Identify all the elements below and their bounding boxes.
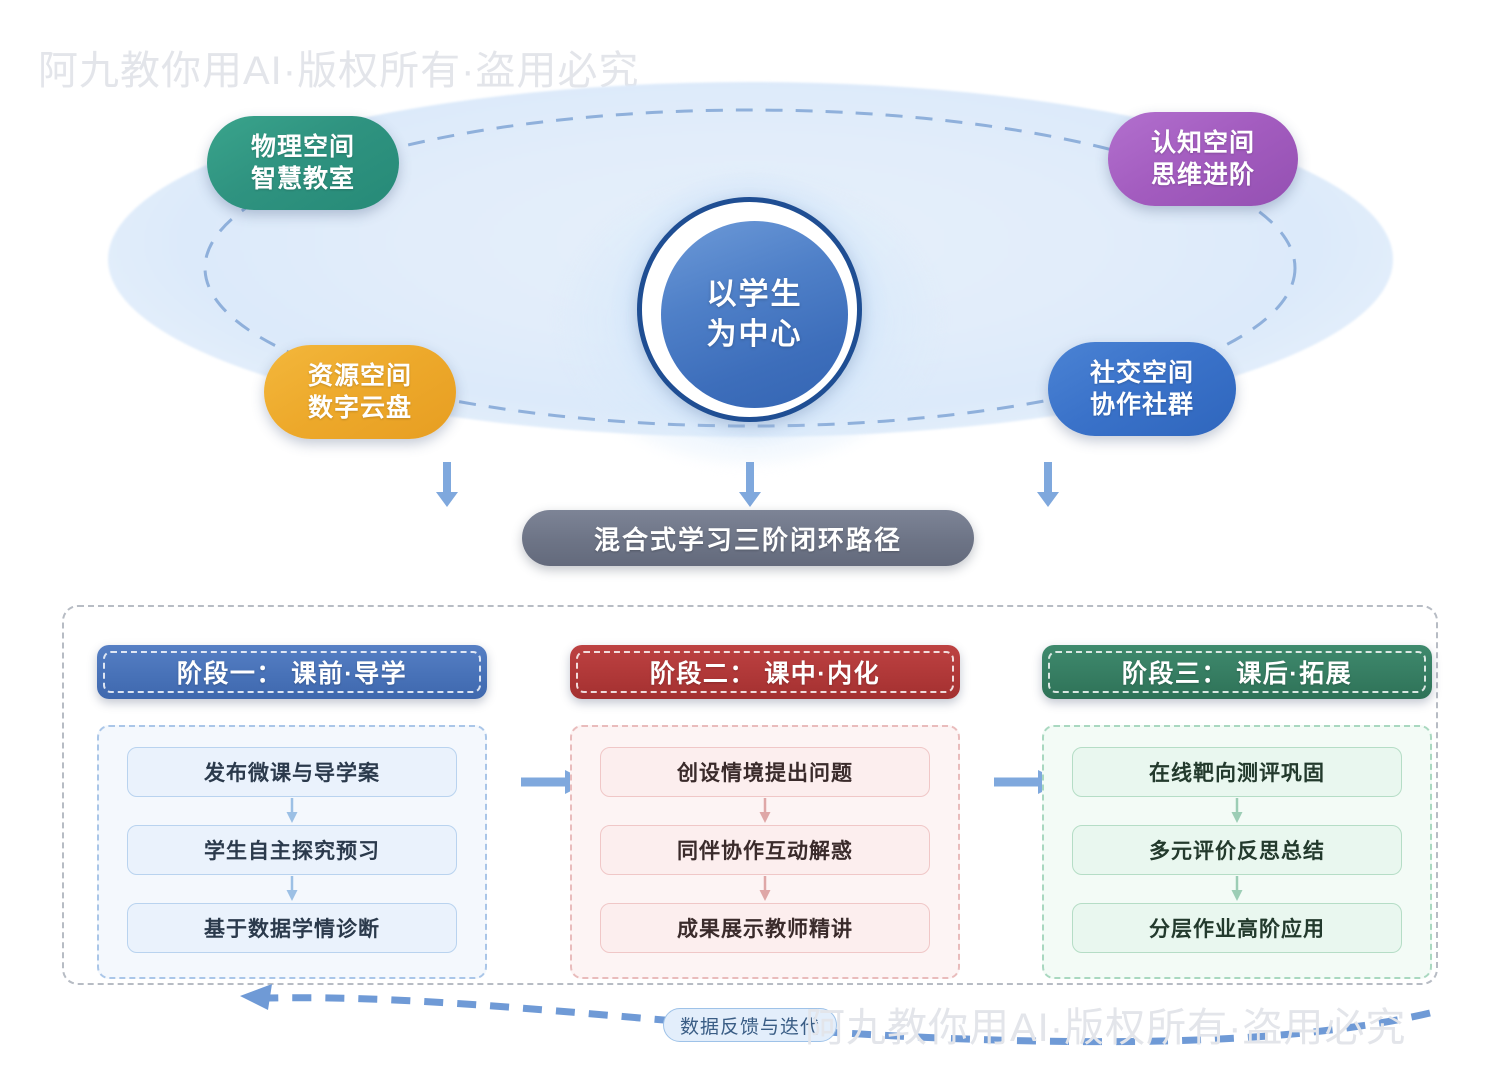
core-line1: 以学生 <box>707 275 803 315</box>
pill-cognitive-line1: 认知空间 <box>1151 127 1255 159</box>
pill-cognitive-space[interactable]: 认知空间 思维进阶 <box>1108 112 1298 206</box>
stage-2-panel: 创设情境提出问题 同伴协作互动解惑 成果展示教师精讲 <box>570 725 960 979</box>
pill-resource-line2: 数字云盘 <box>308 392 412 424</box>
stage-1-header[interactable]: 阶段一： 课前·导学 <box>97 645 487 699</box>
pill-resource-space[interactable]: 资源空间 数字云盘 <box>264 345 456 439</box>
stage-1-step-1[interactable]: 发布微课与导学案 <box>127 747 457 797</box>
pill-social-line2: 协作社群 <box>1090 389 1194 421</box>
stage-1-step-3[interactable]: 基于数据学情诊断 <box>127 903 457 953</box>
core-disc: 以学生 为中心 <box>661 221 848 408</box>
pill-physical-space[interactable]: 物理空间 智慧教室 <box>207 116 399 210</box>
stage-3-panel: 在线靶向测评巩固 多元评价反思总结 分层作业高阶应用 <box>1042 725 1432 979</box>
step-connector-down <box>600 875 930 903</box>
stages-container: 阶段一： 课前·导学 发布微课与导学案 学生自主探究预习 基于数据学情诊断 <box>62 605 1438 985</box>
step-connector-down <box>127 875 457 903</box>
pill-social-space[interactable]: 社交空间 协作社群 <box>1048 342 1236 436</box>
step-connector-down <box>127 797 457 825</box>
pill-physical-line2: 智慧教室 <box>251 163 355 195</box>
arrow-head <box>1037 492 1059 507</box>
pathway-banner: 混合式学习三阶闭环路径 <box>522 510 974 566</box>
stage-2-step-3[interactable]: 成果展示教师精讲 <box>600 903 930 953</box>
ecosystem-section: 物理空间 智慧教室 认知空间 思维进阶 资源空间 数字云盘 社交空间 协作社群 … <box>0 70 1500 470</box>
pill-physical-line1: 物理空间 <box>251 131 355 163</box>
pill-social-line1: 社交空间 <box>1090 357 1194 389</box>
arrow-head <box>436 492 458 507</box>
core-ring: 以学生 为中心 <box>637 197 862 422</box>
down-arrow-right <box>1037 462 1059 507</box>
stage-1-step-2[interactable]: 学生自主探究预习 <box>127 825 457 875</box>
stage-3-step-3[interactable]: 分层作业高阶应用 <box>1072 903 1402 953</box>
stage-column-1: 阶段一： 课前·导学 发布微课与导学案 学生自主探究预习 基于数据学情诊断 <box>97 645 487 979</box>
arrow-head <box>739 492 761 507</box>
stage-3-step-1[interactable]: 在线靶向测评巩固 <box>1072 747 1402 797</box>
arrow-shaft <box>1044 462 1052 492</box>
step-connector-down <box>1072 797 1402 825</box>
arrow-shaft <box>746 462 754 492</box>
diagram-canvas: 阿九教你用AI·版权所有·盗用必究 物理空间 智慧教室 认知空间 思维进阶 资源… <box>0 0 1500 1080</box>
arrow-shaft <box>443 462 451 492</box>
down-arrow-center <box>739 462 761 507</box>
step-connector-down <box>600 797 930 825</box>
watermark-bottom: 阿九教你用AI·版权所有·盗用必究 <box>805 995 1406 1053</box>
down-arrow-left <box>436 462 458 507</box>
step-connector-down <box>1072 875 1402 903</box>
stage-3-step-2[interactable]: 多元评价反思总结 <box>1072 825 1402 875</box>
pill-resource-line1: 资源空间 <box>308 360 412 392</box>
stage-2-step-2[interactable]: 同伴协作互动解惑 <box>600 825 930 875</box>
stage-column-3: 阶段三： 课后·拓展 在线靶向测评巩固 多元评价反思总结 分层作业高阶应用 <box>1042 645 1432 979</box>
feedback-loop-label[interactable]: 数据反馈与迭代 <box>663 1008 837 1042</box>
stage-column-2: 阶段二： 课中·内化 创设情境提出问题 同伴协作互动解惑 成果展示教师精讲 <box>570 645 960 979</box>
stage-2-step-1[interactable]: 创设情境提出问题 <box>600 747 930 797</box>
pill-cognitive-line2: 思维进阶 <box>1151 159 1255 191</box>
stage-1-panel: 发布微课与导学案 学生自主探究预习 基于数据学情诊断 <box>97 725 487 979</box>
core-node[interactable]: 以学生 为中心 <box>637 197 862 422</box>
stage-2-header[interactable]: 阶段二： 课中·内化 <box>570 645 960 699</box>
stage-3-header[interactable]: 阶段三： 课后·拓展 <box>1042 645 1432 699</box>
core-line2: 为中心 <box>707 315 803 355</box>
